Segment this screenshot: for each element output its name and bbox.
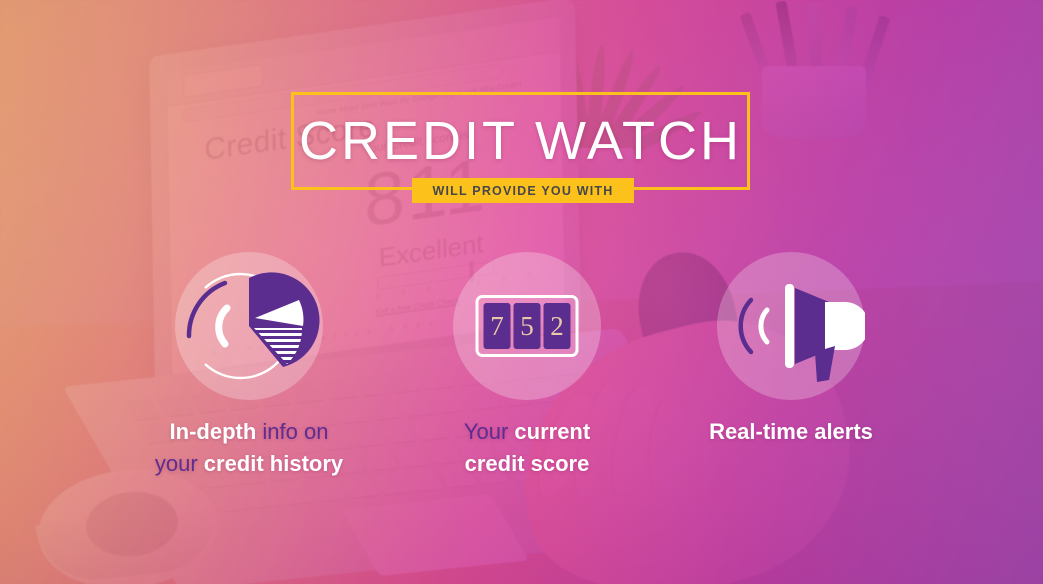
caption-light-1: info on xyxy=(262,419,328,444)
feature-current-score: 7 5 2 Your current credit score xyxy=(400,252,654,480)
score-digit: 5 xyxy=(514,303,541,349)
feature-caption-1: In-depth info on your credit history xyxy=(106,416,392,480)
caption-bold-5: Real-time alerts xyxy=(709,419,873,444)
pie-chart-icon xyxy=(175,252,323,400)
icon-circle-megaphone xyxy=(717,252,865,400)
features-row: In-depth info on your credit history 7 5… xyxy=(0,252,1043,492)
caption-light-3: Your xyxy=(464,419,508,444)
feature-caption-2: Your current credit score xyxy=(400,416,654,480)
promo-banner: Credit Score Home About Debt Want My Col… xyxy=(0,0,1043,584)
caption-bold-1: In-depth xyxy=(170,419,257,444)
caption-bold-4: credit score xyxy=(465,451,590,476)
score-digit: 2 xyxy=(544,303,571,349)
feature-caption-3: Real-time alerts xyxy=(660,416,922,448)
feature-in-depth-info: In-depth info on your credit history xyxy=(106,252,392,480)
caption-bold-2: credit history xyxy=(204,451,343,476)
feature-realtime-alerts: Real-time alerts xyxy=(660,252,922,448)
caption-light-2: your xyxy=(155,451,198,476)
page-title: CREDIT WATCH xyxy=(294,95,747,187)
icon-circle-score: 7 5 2 xyxy=(453,252,601,400)
subtitle-badge: WILL PROVIDE YOU WITH xyxy=(412,178,634,203)
megaphone-icon xyxy=(717,252,865,400)
caption-bold-3: current xyxy=(514,419,590,444)
credit-score-digits-icon: 7 5 2 xyxy=(476,295,579,357)
score-digit: 7 xyxy=(484,303,511,349)
icon-circle-pie xyxy=(175,252,323,400)
title-frame: CREDIT WATCH xyxy=(291,92,750,190)
